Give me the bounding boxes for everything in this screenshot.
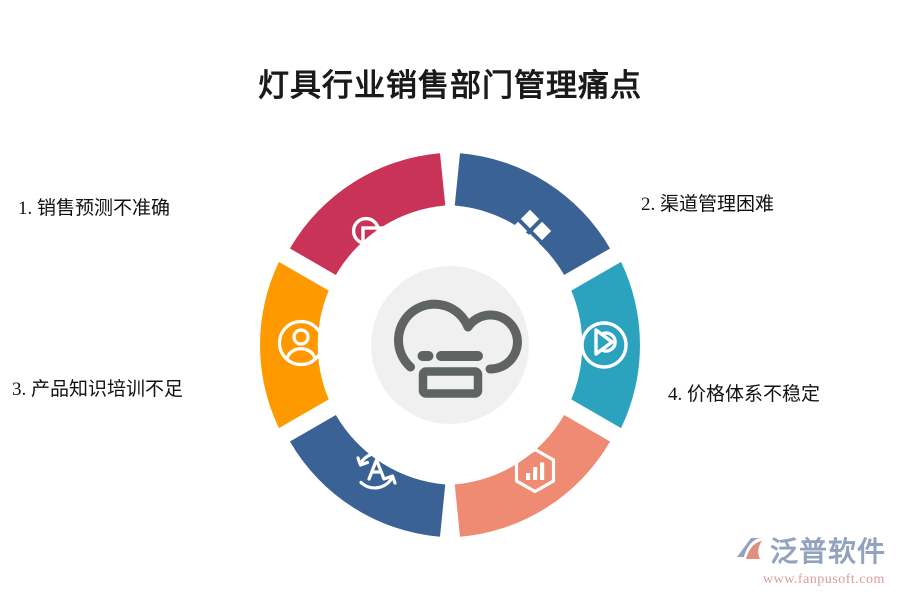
page-title: 灯具行业销售部门管理痛点 xyxy=(0,60,900,105)
segment-bottom-right[interactable] xyxy=(455,415,610,537)
callout-label-3: 3. 产品知识培训不足 xyxy=(12,374,183,401)
callout-label-4: 4. 价格体系不稳定 xyxy=(668,379,820,406)
segment-right[interactable] xyxy=(571,262,640,428)
callout-label-2: 2. 渠道管理困难 xyxy=(641,189,774,216)
watermark-brand: 泛普软件 xyxy=(770,539,886,567)
watermark-logo: 泛普软件 www.fanpusoft.com xyxy=(735,535,886,588)
segment-left[interactable] xyxy=(260,262,329,428)
watermark-url: www.fanpusoft.com xyxy=(763,572,885,588)
fanpu-logo-icon xyxy=(735,535,765,570)
callout-label-1: 1. 销售预测不准确 xyxy=(18,193,170,220)
segment-top-left[interactable] xyxy=(290,153,445,275)
segment-top-right[interactable] xyxy=(455,153,610,275)
segment-bottom-left[interactable] xyxy=(290,415,445,537)
donut-wheel-diagram xyxy=(250,145,650,545)
